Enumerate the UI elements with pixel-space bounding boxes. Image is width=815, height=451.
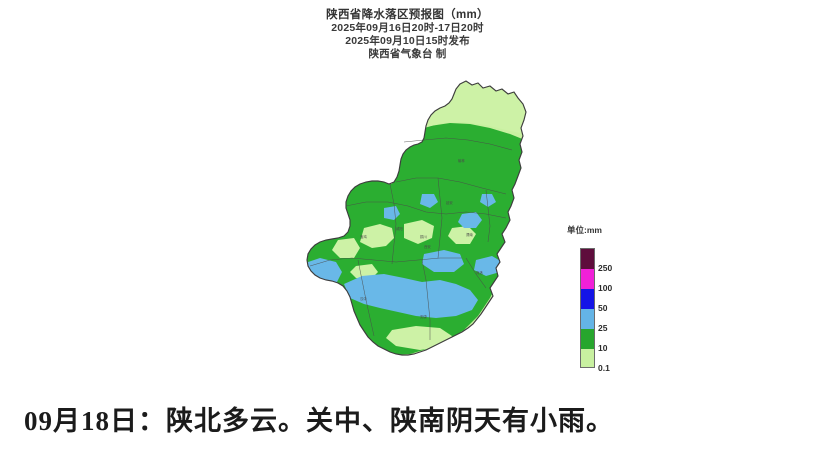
map-title-block: 陕西省降水落区预报图（mm） 2025年09月16日20时-17日20时 202… (0, 8, 815, 60)
legend: 单位:mm 2501005025100.1 (565, 224, 627, 376)
legend-band-250 (581, 249, 594, 269)
forecast-caption: 09月18日：陕北多云。关中、陕南阴天有小雨。 (24, 399, 614, 438)
map-fill-layer (300, 78, 570, 383)
city-label-weinan: 渭南 (466, 232, 473, 237)
city-label-hanzhong: 汉中 (360, 296, 367, 301)
legend-tick-0_1: 0.1 (598, 363, 610, 373)
legend-band-100 (581, 269, 594, 289)
page-title: 陕西省降水落区预报图（mm） (0, 8, 815, 22)
legend-tick-group: 2501005025100.1 (598, 248, 626, 368)
precipitation-map: 榆林 延安 铜川 宝鸡 咸阳 西安 渭南 汉中 安康 商洛 (300, 78, 570, 383)
legend-band-10 (581, 329, 594, 349)
city-label-shangluo: 商洛 (476, 270, 483, 275)
forecast-period: 2025年09月16日20时-17日20时 (0, 22, 815, 35)
city-label-yanan: 延安 (446, 200, 453, 205)
city-label-baoji: 宝鸡 (360, 234, 367, 239)
legend-tick-250: 250 (598, 263, 612, 273)
city-label-ankang: 安康 (420, 314, 427, 319)
legend-colorbar (580, 248, 595, 368)
city-label-xian: 西安 (424, 244, 431, 249)
legend-band-25 (581, 309, 594, 329)
legend-tick-100: 100 (598, 283, 612, 293)
legend-tick-25: 25 (598, 323, 607, 333)
legend-band-50 (581, 289, 594, 309)
legend-tick-10: 10 (598, 343, 607, 353)
city-label-tongchuan: 铜川 (420, 234, 427, 239)
issue-time: 2025年09月10日15时发布 (0, 35, 815, 48)
issuing-agency: 陕西省气象台 制 (0, 48, 815, 61)
legend-tick-50: 50 (598, 303, 607, 313)
city-label-xianyang: 咸阳 (396, 226, 403, 231)
city-label-yulin: 榆林 (458, 158, 465, 163)
legend-unit-label: 单位:mm (567, 224, 602, 236)
legend-band-0_1 (581, 349, 594, 368)
